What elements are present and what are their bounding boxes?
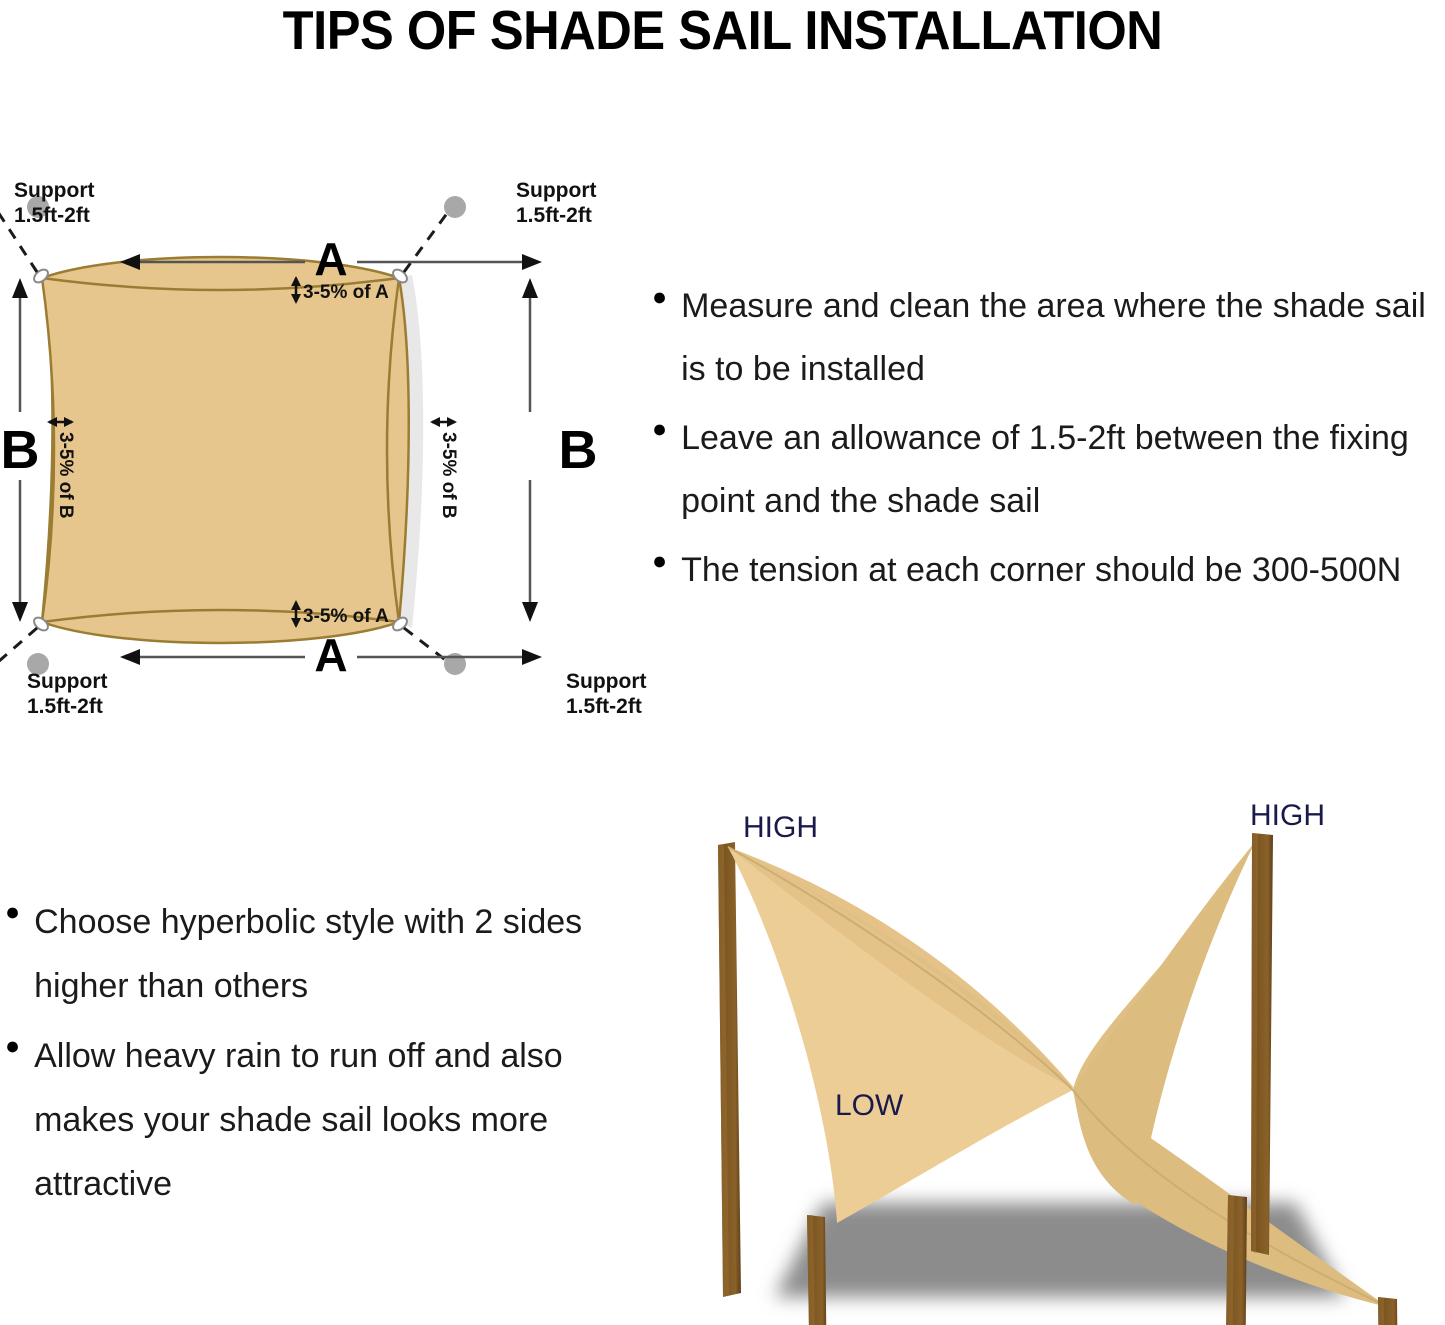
callout-label-bottom: 3-5% of A bbox=[303, 606, 389, 627]
label-high-left: HIGH bbox=[743, 811, 818, 844]
bullet-dot-icon: ● bbox=[652, 549, 667, 574]
list-item: ● Allow heavy rain to run off and also m… bbox=[5, 1024, 630, 1216]
dimension-label-a-bottom: A bbox=[314, 629, 347, 681]
bullet-dot-icon: ● bbox=[652, 417, 667, 442]
bullet-dot-icon: ● bbox=[5, 1034, 20, 1059]
callout-right-curve bbox=[430, 417, 457, 427]
support-label-bottom-left-line1: Support bbox=[27, 670, 107, 693]
tip-text: Leave an allowance of 1.5-2ft between th… bbox=[681, 407, 1445, 533]
list-item: ● Choose hyperbolic style with 2 sides h… bbox=[5, 890, 630, 1018]
label-low-left: LOW bbox=[835, 1089, 904, 1122]
arrow-a-bottom-right bbox=[522, 649, 542, 665]
post-low-right bbox=[1378, 1297, 1399, 1325]
post-high-right bbox=[1251, 833, 1273, 1255]
hyperbolic-style-tips-list: ● Choose hyperbolic style with 2 sides h… bbox=[5, 890, 630, 1222]
list-item: ● Measure and clean the area where the s… bbox=[652, 275, 1445, 401]
post-middle-right bbox=[1225, 1195, 1247, 1325]
arrow-b-right-bottom bbox=[522, 602, 538, 622]
tip-text: Measure and clean the area where the sha… bbox=[681, 275, 1445, 401]
tip-text: Allow heavy rain to run off and also mak… bbox=[34, 1024, 630, 1216]
rect-sail-diagram: Support 1.5ft-2ft Support 1.5ft-2ft Supp… bbox=[0, 150, 700, 890]
dimension-label-b-right: B bbox=[559, 420, 598, 480]
infographic-page: TIPS OF SHADE SAIL INSTALLATION bbox=[0, 0, 1445, 1319]
shade-sail-body bbox=[42, 278, 399, 622]
bullet-dot-icon: ● bbox=[652, 285, 667, 310]
support-dot-top-right bbox=[444, 196, 466, 218]
callout-label-left: 3-5% of B bbox=[55, 432, 76, 519]
arrow-b-left-top bbox=[12, 278, 28, 298]
callout-label-right: 3-5% of B bbox=[438, 432, 459, 519]
arrow-a-bottom-left bbox=[120, 649, 140, 665]
page-title: TIPS OF SHADE SAIL INSTALLATION bbox=[58, 0, 1387, 62]
dimension-label-a-top: A bbox=[314, 233, 347, 285]
list-item: ● The tension at each corner should be 3… bbox=[652, 539, 1445, 602]
post-high-left bbox=[718, 842, 741, 1297]
dimension-label-b-left: B bbox=[1, 420, 40, 480]
arrow-a-top-right bbox=[522, 254, 542, 270]
support-label-bottom-right-line2: 1.5ft-2ft bbox=[566, 695, 642, 718]
arrow-b-right-top bbox=[522, 278, 538, 298]
support-label-top-left-line1: Support bbox=[14, 179, 94, 202]
support-label-top-right-line2: 1.5ft-2ft bbox=[516, 204, 592, 227]
post-low-left bbox=[807, 1215, 827, 1325]
label-high-right: HIGH bbox=[1250, 799, 1325, 832]
support-label-top-left-line2: 1.5ft-2ft bbox=[14, 204, 90, 227]
installation-tips-list: ● Measure and clean the area where the s… bbox=[652, 275, 1445, 608]
list-item: ● Leave an allowance of 1.5-2ft between … bbox=[652, 407, 1445, 533]
hyperbolic-sail-diagram: HIGH HIGH LOW LOW bbox=[655, 785, 1445, 1325]
support-label-bottom-right-line1: Support bbox=[566, 670, 646, 693]
callout-label-top: 3-5% of A bbox=[303, 282, 389, 303]
tip-text: The tension at each corner should be 300… bbox=[681, 539, 1401, 602]
bullet-dot-icon: ● bbox=[5, 900, 20, 925]
tip-text: Choose hyperbolic style with 2 sides hig… bbox=[34, 890, 630, 1018]
support-label-top-right-line1: Support bbox=[516, 179, 596, 202]
arrow-b-left-bottom bbox=[12, 602, 28, 622]
support-label-bottom-left-line2: 1.5ft-2ft bbox=[27, 695, 103, 718]
